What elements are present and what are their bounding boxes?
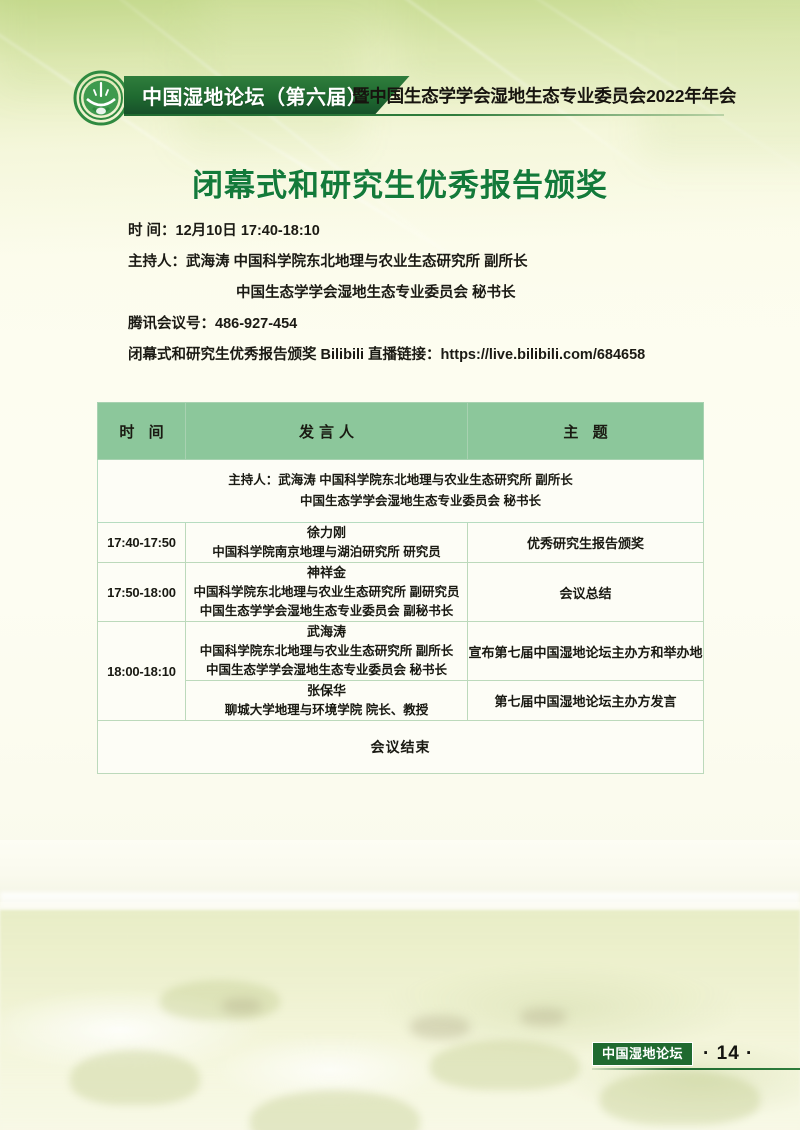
row-topic: 会议总结 [468,563,704,622]
table-row: 18:00-18:10 武海涛 中国科学院东北地理与农业生态研究所 副所长 中国… [98,622,704,681]
banner-sub-title: 暨中国生态学学会湿地生态专业委员会2022年年会 [352,83,736,108]
conference-banner: 中国湿地论坛（第六届） 暨中国生态学学会湿地生态专业委员会2022年年会 [0,70,800,126]
info-line-live-link: 闭幕式和研究生优秀报告颁奖 Bilibili 直播链接：https://live… [128,340,728,371]
page-footer: 中国湿地论坛 · 14 · [592,1040,753,1068]
host-row-line-2: 中国生态学学会湿地生态专业委员会 秘书长 [98,491,703,512]
column-header-topic: 主 题 [468,403,704,460]
end-row-label: 会议结束 [98,721,704,774]
row-speaker: 张保华 聊城大学地理与环境学院 院长、教授 [186,681,468,721]
wetland-forum-emblem-icon [72,70,130,126]
table-row: 张保华 聊城大学地理与环境学院 院长、教授 第七届中国湿地论坛主办方发言 [98,681,704,721]
info-line-host-cont: 中国生态学学会湿地生态专业委员会 秘书长 [128,278,728,309]
row-time: 18:00-18:10 [98,622,186,721]
info-line-time: 时 间：12月10日 17:40-18:10 [128,216,728,247]
speaker-affiliation-1: 中国科学院东北地理与农业生态研究所 副研究员 [186,583,467,602]
agenda-header-row: 时 间 发言人 主 题 [98,403,704,460]
agenda-end-row: 会议结束 [98,721,704,774]
speaker-affiliation-1: 聊城大学地理与环境学院 院长、教授 [225,703,428,717]
session-info-block: 时 间：12月10日 17:40-18:10 主持人：武海涛 中国科学院东北地理… [128,216,728,371]
column-header-time: 时 间 [98,403,186,460]
row-topic: 优秀研究生报告颁奖 [468,523,704,563]
speaker-affiliation-1: 中国科学院东北地理与农业生态研究所 副所长 [186,642,467,661]
row-topic: 宣布第七届中国湿地论坛主办方和举办地 [468,622,704,681]
info-line-meeting-id: 腾讯会议号：486-927-454 [128,309,728,340]
footer-underline [592,1068,800,1070]
footer-brand-tab: 中国湿地论坛 [592,1042,693,1066]
page-root: 中国湿地论坛（第六届） 暨中国生态学学会湿地生态专业委员会2022年年会 闭幕式… [0,0,800,1130]
banner-subtitle-wrap: 暨中国生态学学会湿地生态专业委员会2022年年会 [352,76,736,114]
host-row-cell: 主持人：武海涛 中国科学院东北地理与农业生态研究所 副所长 中国生态学学会湿地生… [98,460,704,523]
row-time: 17:50-18:00 [98,563,186,622]
agenda-host-row: 主持人：武海涛 中国科学院东北地理与农业生态研究所 副所长 中国生态学学会湿地生… [98,460,704,523]
row-speaker: 神祥金 中国科学院东北地理与农业生态研究所 副研究员 中国生态学学会湿地生态专业… [186,563,468,622]
host-row-line-1: 主持人：武海涛 中国科学院东北地理与农业生态研究所 副所长 [98,470,703,491]
banner-underline [124,114,724,116]
background-wetland-photo [0,840,800,1130]
speaker-affiliation-2: 中国生态学学会湿地生态专业委员会 副秘书长 [186,602,467,621]
banner-main-title: 中国湿地论坛（第六届） [142,81,368,110]
row-time: 17:40-17:50 [98,523,186,563]
page-number: · 14 · [703,1043,753,1065]
speaker-affiliation-2: 中国生态学学会湿地生态专业委员会 秘书长 [186,661,467,680]
info-line-host: 主持人：武海涛 中国科学院东北地理与农业生态研究所 副所长 [128,247,728,278]
agenda-table: 时 间 发言人 主 题 主持人：武海涛 中国科学院东北地理与农业生态研究所 副所… [97,402,704,774]
row-speaker: 徐力刚 中国科学院南京地理与湖泊研究所 研究员 [186,523,468,563]
speaker-name: 武海涛 [186,622,467,641]
row-topic: 第七届中国湿地论坛主办方发言 [468,681,704,721]
table-row: 17:40-17:50 徐力刚 中国科学院南京地理与湖泊研究所 研究员 优秀研究… [98,523,704,563]
speaker-name: 张保华 [186,681,467,700]
page-title: 闭幕式和研究生优秀报告颁奖 [0,160,800,205]
row-speaker: 武海涛 中国科学院东北地理与农业生态研究所 副所长 中国生态学学会湿地生态专业委… [186,622,468,681]
table-row: 17:50-18:00 神祥金 中国科学院东北地理与农业生态研究所 副研究员 中… [98,563,704,622]
speaker-name: 神祥金 [186,563,467,582]
speaker-name: 徐力刚 [186,523,467,542]
column-header-speaker: 发言人 [186,403,468,460]
speaker-affiliation-1: 中国科学院南京地理与湖泊研究所 研究员 [212,545,440,559]
